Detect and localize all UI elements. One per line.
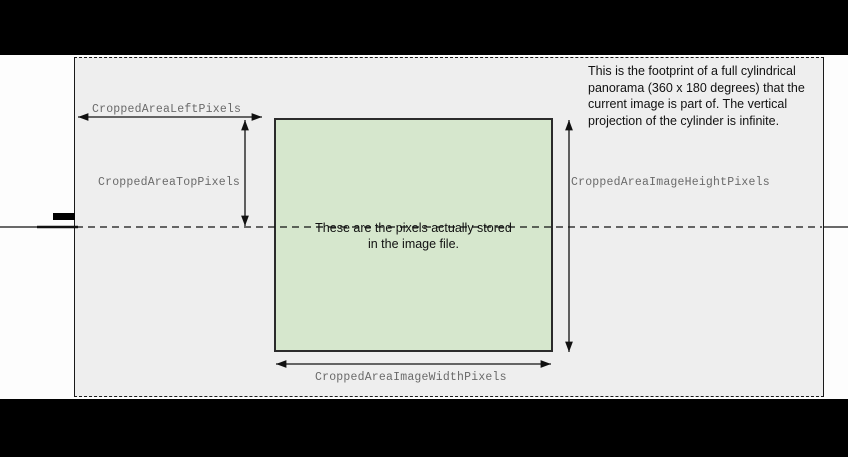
stored-pixels-line-2: in the image file. bbox=[368, 237, 459, 251]
footprint-note-text: This is the footprint of a full cylindri… bbox=[588, 63, 828, 129]
stored-pixels-caption: These are the pixels actually stored in … bbox=[276, 220, 551, 252]
label-cropped-area-top-pixels: CroppedAreaTopPixels bbox=[98, 176, 240, 189]
horizon-marker-block bbox=[53, 213, 75, 220]
label-cropped-area-image-width-pixels: CroppedAreaImageWidthPixels bbox=[315, 371, 507, 384]
label-cropped-area-image-height-pixels: CroppedAreaImageHeightPixels bbox=[571, 176, 770, 189]
letterbox-bar-top bbox=[0, 0, 848, 55]
cropped-area-rect: These are the pixels actually stored in … bbox=[274, 118, 553, 352]
letterbox-bar-bottom bbox=[0, 399, 848, 457]
label-cropped-area-left-pixels: CroppedAreaLeftPixels bbox=[92, 103, 241, 116]
diagram-canvas: These are the pixels actually stored in … bbox=[0, 0, 848, 457]
stored-pixels-line-1: These are the pixels actually stored bbox=[315, 221, 512, 235]
